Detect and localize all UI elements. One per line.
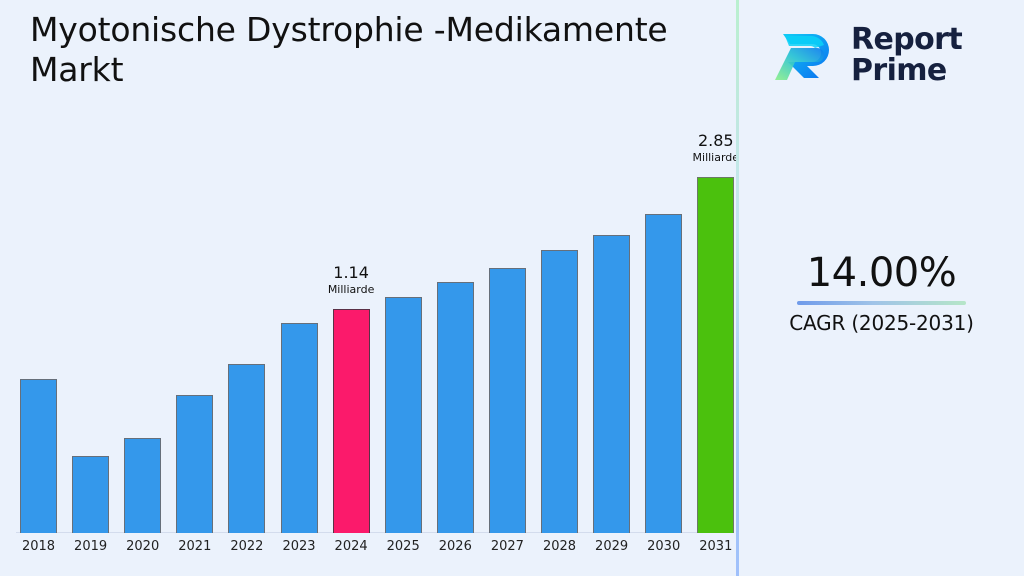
chart-infographic: Myotonische Dystrophie -Medikamente Mark… (0, 0, 1024, 576)
bar-value-2024: 1.14 (306, 265, 396, 282)
brand-name: Report Prime (851, 24, 962, 86)
bar-2028[interactable] (541, 250, 578, 533)
bar-2019[interactable] (72, 456, 109, 533)
cagr-caption: CAGR (2025-2031) (739, 311, 1024, 335)
x-axis-tick-2020: 2020 (113, 539, 173, 554)
report-prime-logo-icon (767, 18, 841, 92)
x-axis-tick-2028: 2028 (530, 539, 590, 554)
bar-2024[interactable] (333, 309, 370, 533)
x-axis-tick-2021: 2021 (165, 539, 225, 554)
bar-2029[interactable] (593, 235, 630, 533)
bar-2027[interactable] (489, 268, 526, 533)
chart-panel: Myotonische Dystrophie -Medikamente Mark… (0, 0, 737, 576)
x-axis-tick-2022: 2022 (217, 539, 277, 554)
bar-chart-plot: 2018201920202021202220231.14Milliarde202… (0, 0, 737, 576)
brand-panel: Report Prime 14.00% CAGR (2025-2031) (739, 0, 1024, 576)
x-axis-tick-2024: 2024 (321, 539, 381, 554)
x-axis-tick-2023: 2023 (269, 539, 329, 554)
bar-2020[interactable] (124, 438, 161, 533)
bar-2018[interactable] (20, 379, 57, 533)
brand-logo: Report Prime (767, 12, 1007, 98)
bar-2030[interactable] (645, 214, 682, 533)
cagr-value: 14.00% (739, 252, 1024, 294)
x-axis-tick-2027: 2027 (477, 539, 537, 554)
bar-value-label-2024: 1.14Milliarde (306, 265, 396, 295)
bar-2022[interactable] (228, 364, 265, 533)
x-axis-tick-2030: 2030 (634, 539, 694, 554)
bar-2025[interactable] (385, 297, 422, 533)
x-axis-tick-2025: 2025 (373, 539, 433, 554)
bar-2021[interactable] (176, 395, 213, 533)
bar-2023[interactable] (281, 323, 318, 533)
x-axis-tick-2026: 2026 (425, 539, 485, 554)
bar-2031[interactable] (697, 177, 734, 533)
cagr-divider-rule (797, 301, 966, 305)
x-axis-tick-2029: 2029 (582, 539, 642, 554)
cagr-block: 14.00% CAGR (2025-2031) (739, 252, 1024, 335)
bar-unit-2024: Milliarde (306, 284, 396, 296)
bar-2026[interactable] (437, 282, 474, 533)
x-axis-tick-2019: 2019 (61, 539, 121, 554)
x-axis-tick-2018: 2018 (9, 539, 69, 554)
